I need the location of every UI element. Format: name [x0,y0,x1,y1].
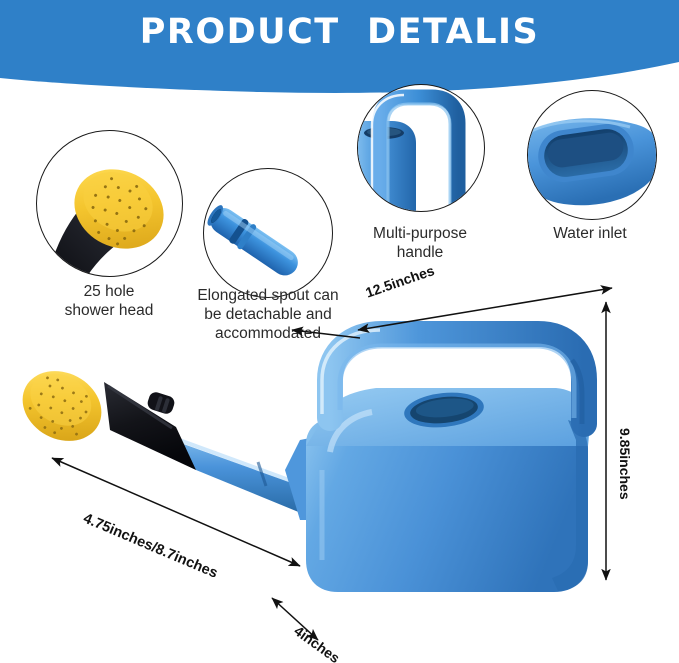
shower-head [10,358,113,455]
dimension-spout-label: 4.75inches/8.7inches [81,511,220,582]
shower-neck [104,382,196,470]
water-inlet-opening [402,389,485,431]
water-inlet-label: Water inlet [515,225,665,244]
header-banner: PRODUCT DETALIS [0,0,679,100]
spout-tube-icon [204,169,332,297]
spout-label: Elongated spout can be detachable and ac… [168,287,368,344]
dimension-length-label: 12.5inches [363,262,436,300]
handle-label: Multi-purpose handle [340,225,500,263]
can-handle [322,330,584,424]
shower-head-bubble [36,130,183,277]
water-inlet-icon [528,91,656,219]
dimension-height-label: 9.85inches [617,428,633,500]
shower-head-icon [37,131,182,276]
spout-tube [150,430,318,520]
handle-bubble [357,84,485,212]
spout-bubble [203,168,333,298]
dim-line-length [358,288,612,330]
can-body [285,388,590,592]
dimension-width-label: 4inches [291,623,343,663]
product-details-infographic: PRODUCT DETALIS [0,0,679,663]
handle-corner-icon [358,85,484,211]
water-inlet-bubble [527,90,657,220]
spout-clip [146,390,176,415]
page-title: PRODUCT DETALIS [0,12,679,52]
